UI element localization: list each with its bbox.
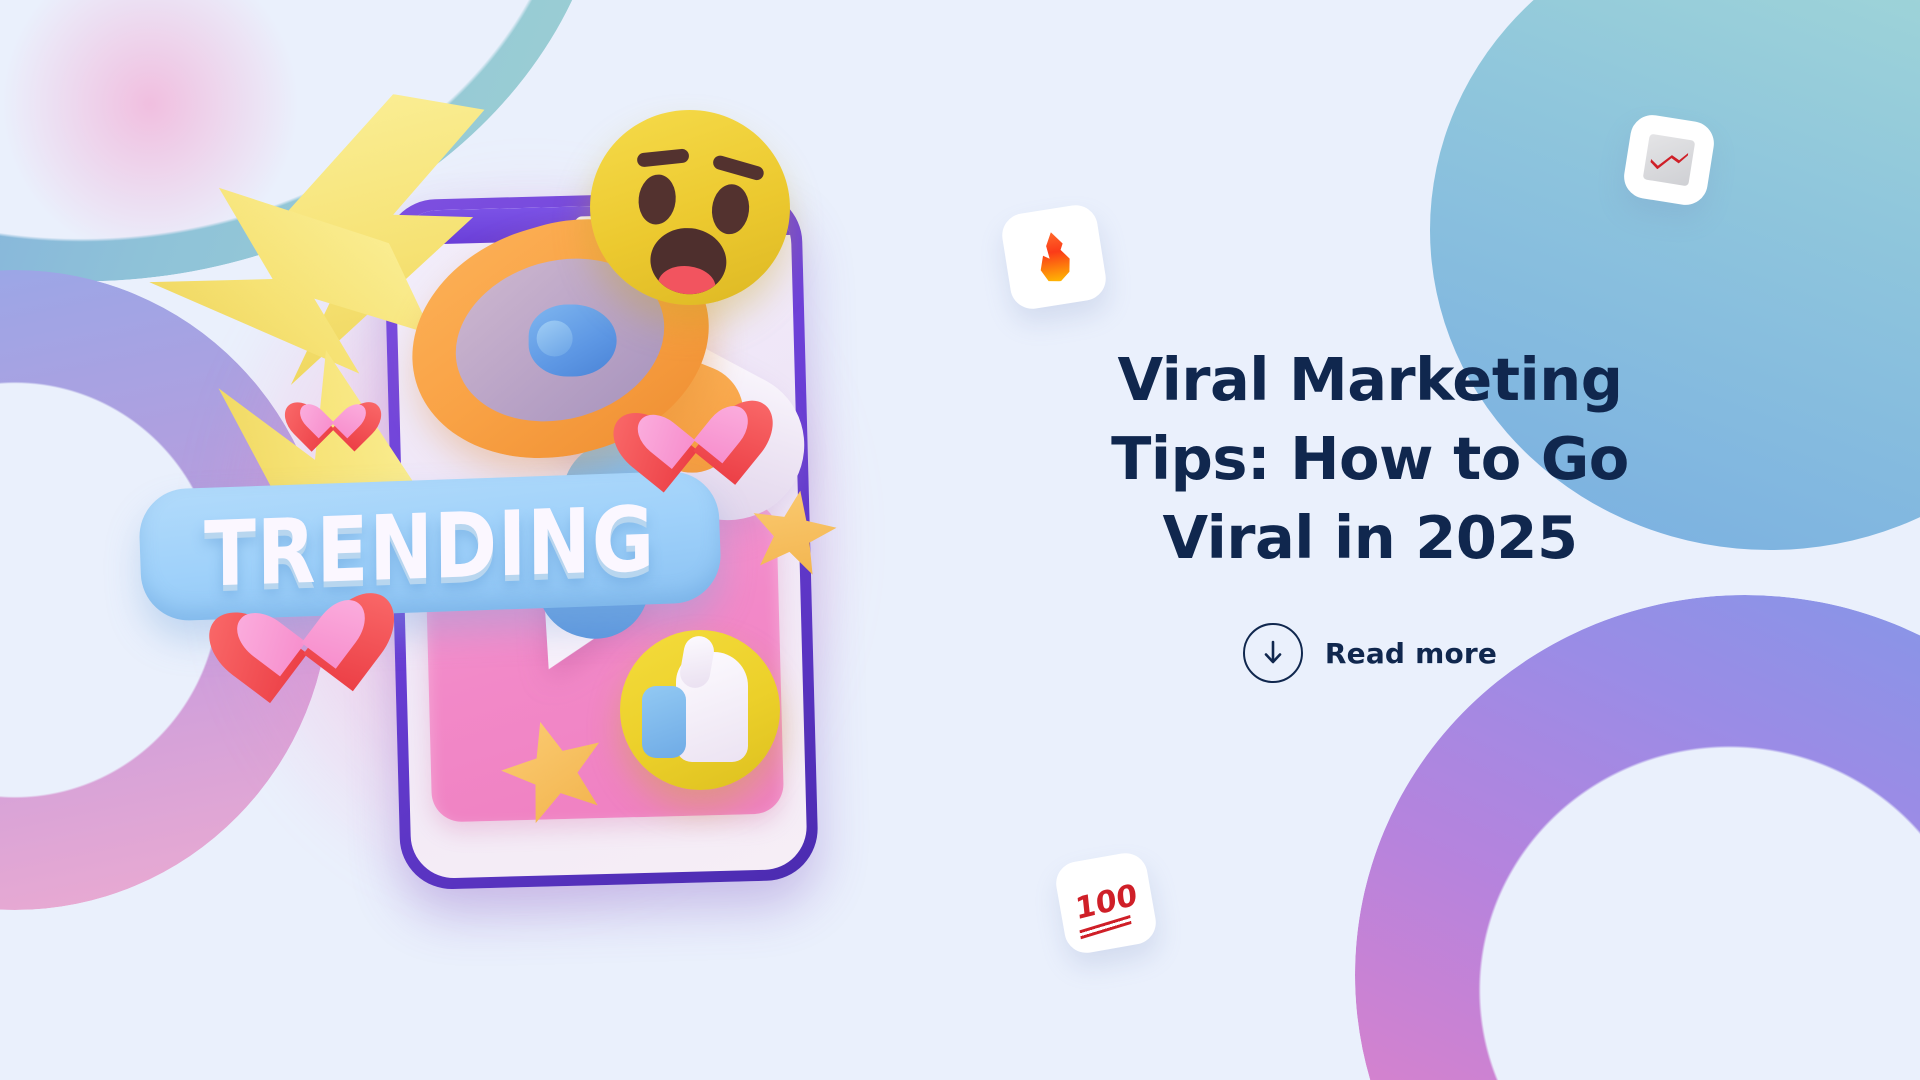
megaphone-nub-highlight (537, 321, 573, 357)
emoji-eyebrow-left (636, 148, 689, 167)
emoji-tongue (656, 263, 718, 298)
chart-increasing-icon (1643, 134, 1696, 187)
thumbs-up-badge (620, 630, 780, 790)
emoji-eye-left (636, 173, 678, 227)
page-title: Viral Marketing Tips: How to Go Viral in… (1060, 340, 1680, 577)
social-media-3d-illustration: TRENDING (120, 60, 950, 1020)
heart-icon-medium (635, 365, 748, 471)
fire-icon (1031, 229, 1076, 284)
trending-badge: TRENDING (138, 470, 722, 622)
hundred-points-emoji-card: 100 (1053, 850, 1160, 957)
emoji-eyebrow-right (711, 154, 765, 182)
fire-emoji-card (999, 202, 1109, 312)
heart-icon-small (302, 380, 364, 438)
emoji-eye-right (710, 182, 752, 236)
emoji-mouth (647, 224, 729, 298)
circle-arrow-down-icon[interactable] (1243, 623, 1303, 683)
banner-content: Viral Marketing Tips: How to Go Viral in… (1060, 340, 1680, 683)
thumbs-up-cuff (642, 686, 686, 758)
heart-icon-large (233, 552, 367, 680)
hundred-points-icon: 100 (1074, 880, 1138, 925)
read-more-button[interactable]: Read more (1060, 623, 1680, 683)
chart-increasing-emoji-card (1621, 112, 1717, 208)
viral-marketing-banner: TRENDING 100 V (0, 0, 1920, 1080)
megaphone-nub (529, 305, 617, 377)
read-more-label: Read more (1325, 637, 1497, 670)
